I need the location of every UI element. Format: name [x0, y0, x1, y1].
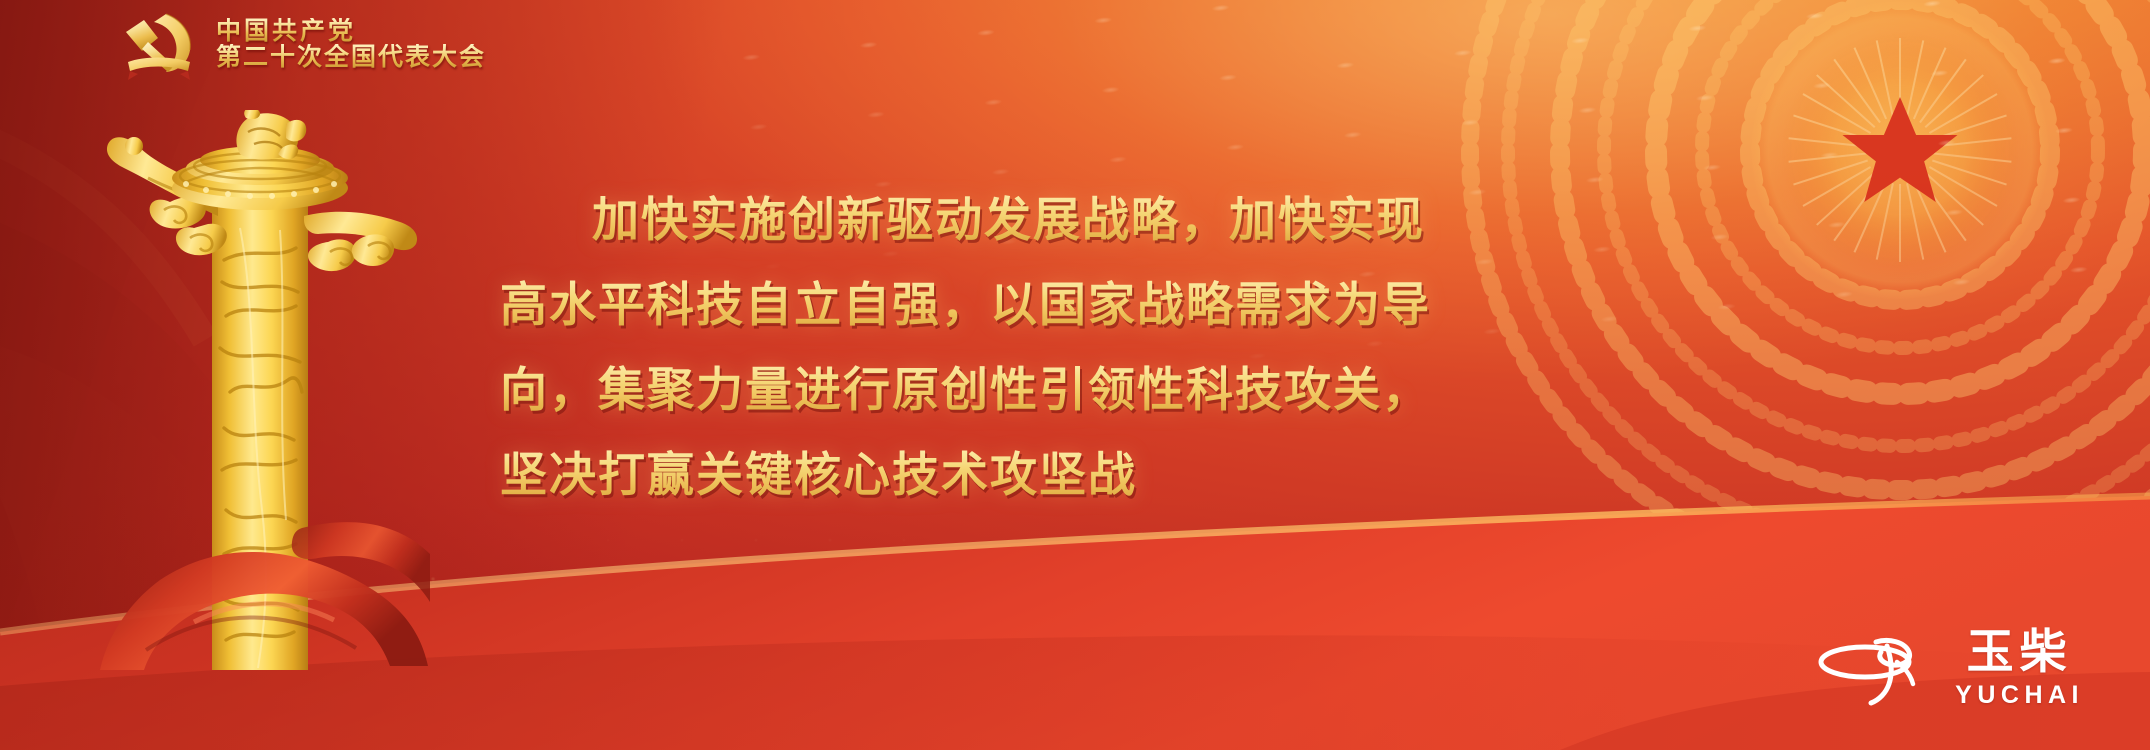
yuchai-name-cn: 玉柴 — [1967, 629, 2073, 676]
yuchai-ellipse-mark-icon — [1813, 632, 1941, 706]
headline-line-3: 向，集聚力量进行原创性引领性科技攻关， — [500, 348, 1800, 433]
headline-block: 加快实施创新驱动发展战略，加快实现 高水平科技自立自强，以国家战略需求为导 向，… — [500, 178, 1800, 518]
promotional-banner: 中国共产党 第二十次全国代表大会 加快实施创新驱动发展战略，加快实现 高水平科技… — [0, 0, 2150, 750]
headline-line-1: 加快实施创新驱动发展战略，加快实现 — [500, 178, 1800, 263]
party-logo-line1: 中国共产党 — [216, 18, 486, 45]
party-congress-logo: 中国共产党 第二十次全国代表大会 — [118, 8, 486, 80]
headline-line-4: 坚决打赢关键核心技术攻坚战 — [500, 433, 1800, 518]
hammer-and-sickle-icon — [118, 8, 200, 80]
headline-line-2: 高水平科技自立自强，以国家战略需求为导 — [500, 263, 1800, 348]
yuchai-name-en: YUCHAI — [1955, 683, 2084, 708]
party-logo-line2: 第二十次全国代表大会 — [216, 44, 486, 71]
yuchai-brand-logo: 玉柴 YUCHAI — [1813, 629, 2084, 708]
